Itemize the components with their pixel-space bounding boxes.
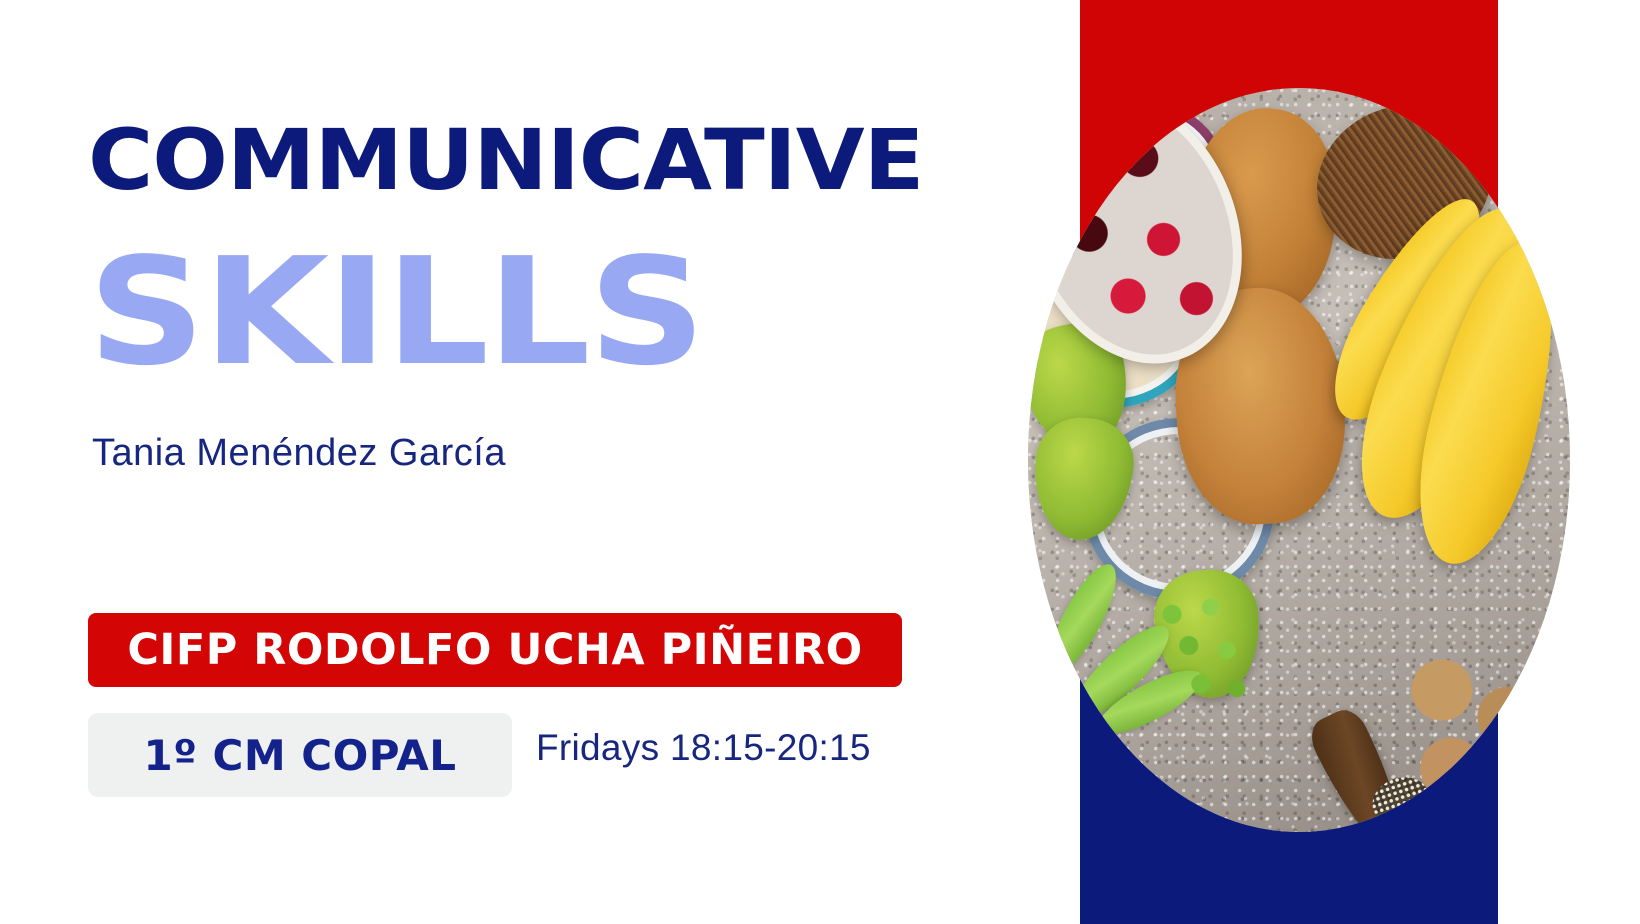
headline-line-1: COMMUNICATIVE [88,118,923,202]
healthy-food-oval-photo [1028,88,1570,832]
school-banner: CIFP RODOLFO UCHA PIÑEIRO [88,613,902,687]
course-pill: 1º CM COPAL [88,713,512,797]
schedule-text: Fridays 18:15-20:15 [536,727,871,769]
school-banner-label: CIFP RODOLFO UCHA PIÑEIRO [127,625,862,675]
course-pill-label: 1º CM COPAL [144,731,457,780]
author-name: Tania Menéndez García [92,432,506,475]
walnuts [1400,656,1550,826]
presentation-slide: COMMUNICATIVE SKILLS Tania Menéndez Garc… [0,0,1640,924]
headline-line-2: SKILLS [88,238,704,386]
